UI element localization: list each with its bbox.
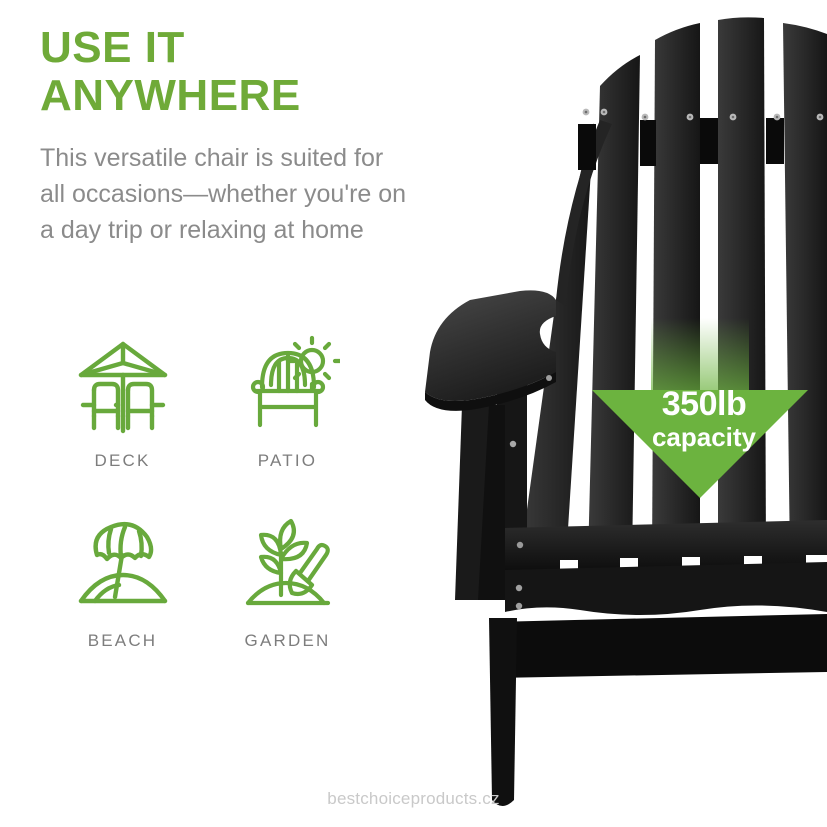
adirondack-chair-sun-icon (236, 335, 340, 439)
beach-umbrella-dune-icon (71, 515, 175, 619)
use-case-label: GARDEN (245, 631, 331, 651)
use-case-label: DECK (94, 451, 150, 471)
description-text: This versatile chair is suited for all o… (40, 140, 520, 248)
use-case-deck: DECK (40, 335, 205, 471)
capacity-weight: 350lb (634, 387, 774, 421)
plant-trowel-icon (236, 515, 340, 619)
use-case-garden: GARDEN (205, 515, 370, 651)
use-case-label: PATIO (258, 451, 318, 471)
umbrella-two-chairs-icon (71, 335, 175, 439)
headline: USE IT ANYWHERE (40, 24, 460, 120)
use-case-row-1: DECK (40, 335, 370, 515)
use-case-patio: PATIO (205, 335, 370, 471)
marketing-image: 350lb capacity USE IT ANYWHERE This vers… (0, 0, 827, 827)
use-case-grid: DECK (40, 335, 370, 695)
use-case-beach: BEACH (40, 515, 205, 651)
use-case-row-2: BEACH (40, 515, 370, 695)
watermark: bestchoiceproducts.cz (0, 789, 827, 809)
capacity-caption: capacity (634, 424, 774, 450)
capacity-badge-text: 350lb capacity (634, 387, 774, 450)
use-case-label: BEACH (88, 631, 158, 651)
